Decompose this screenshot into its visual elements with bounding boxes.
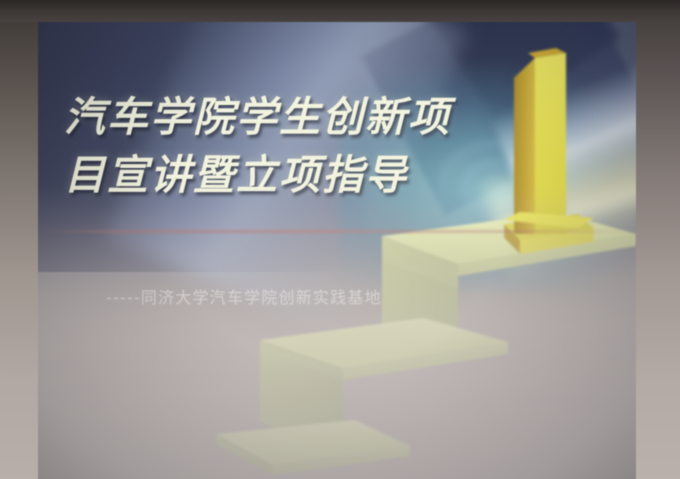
title-divider-line xyxy=(38,230,636,233)
bottom-step xyxy=(216,420,410,475)
middle-step-front-face xyxy=(343,342,508,380)
projected-slide-photo: 汽车学院学生创新项 目宣讲暨立项指导 -----同济大学汽车学院创新实践基地 xyxy=(0,0,680,479)
wall-right-edge xyxy=(634,0,680,479)
wall-left-edge xyxy=(0,0,40,479)
presentation-slide: 汽车学院学生创新项 目宣讲暨立项指导 -----同济大学汽车学院创新实践基地 xyxy=(38,22,636,479)
slide-subtitle: -----同济大学汽车学院创新实践基地 xyxy=(106,284,382,308)
wall-top-band xyxy=(0,0,680,10)
title-line-1: 汽车学院学生创新项 xyxy=(64,88,534,146)
bottom-step-front-face xyxy=(273,446,410,475)
bottom-step-top-face xyxy=(216,420,410,465)
middle-step-top-face xyxy=(260,318,508,368)
bottom-step-left-riser xyxy=(216,434,273,475)
middle-step-left-riser xyxy=(260,340,343,380)
middle-step-column-side xyxy=(260,352,343,452)
slide-title: 汽车学院学生创新项 目宣讲暨立项指导 xyxy=(64,88,534,204)
title-line-2: 目宣讲暨立项指导 xyxy=(64,146,534,204)
middle-step xyxy=(260,318,508,452)
